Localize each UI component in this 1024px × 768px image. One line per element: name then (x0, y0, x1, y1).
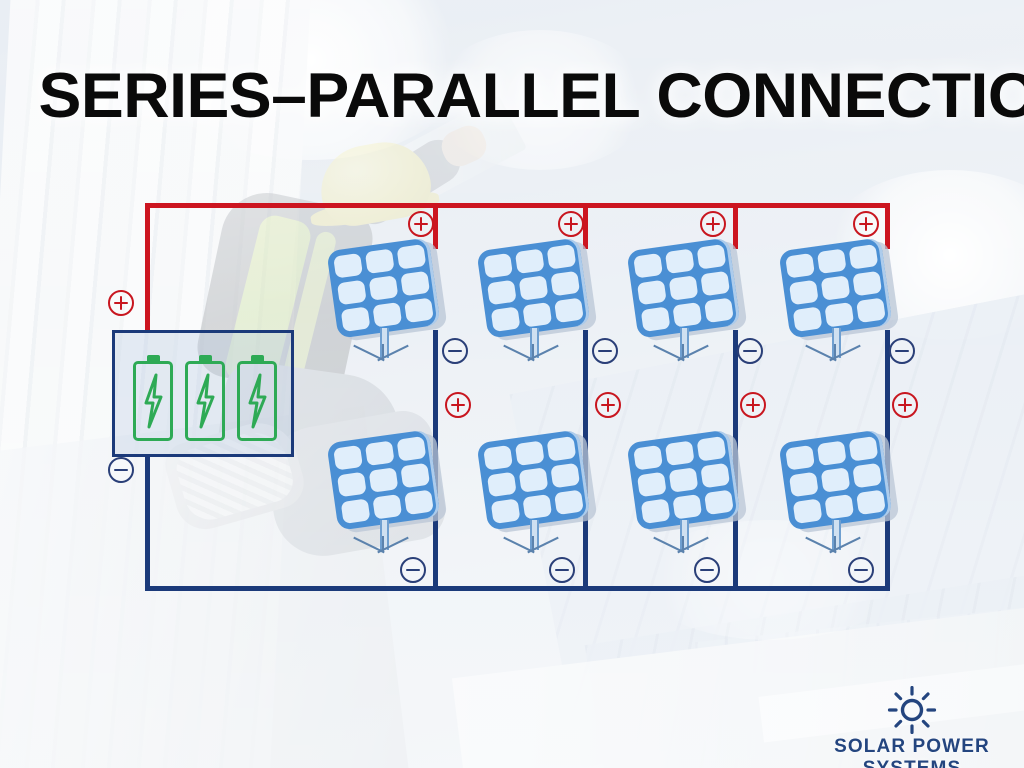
panel-r2c3[interactable] (630, 432, 748, 550)
panel-cell-grid (626, 429, 740, 530)
panel-leg (532, 536, 534, 552)
panel-leg (682, 344, 684, 360)
panel-r1c3[interactable] (630, 240, 748, 358)
wiring-diagram (0, 0, 1024, 768)
negative-terminal-r2c1[interactable] (400, 557, 426, 583)
positive-terminal-r1c3[interactable] (700, 211, 726, 237)
panel-r2c1[interactable] (330, 432, 448, 550)
positive-terminal-r2c3[interactable] (740, 392, 766, 418)
logo[interactable]: SOLAR POWER SYSTEMS (806, 686, 1018, 762)
sun-icon (884, 686, 940, 734)
panel-r2c4[interactable] (782, 432, 900, 550)
panel-r1c1[interactable] (330, 240, 448, 358)
positive-wire-to-battery (145, 203, 150, 333)
panel-leg (834, 344, 836, 360)
negative-terminal-r1c1[interactable] (442, 338, 468, 364)
negative-terminal-r1c4[interactable] (889, 338, 915, 364)
panel-leg (834, 536, 836, 552)
panel-leg (532, 344, 534, 360)
panel-cell-grid (476, 429, 590, 530)
battery-negative-terminal[interactable] (108, 457, 134, 483)
panel-cell-grid (778, 237, 892, 338)
lightning-bolt-icon (246, 373, 268, 429)
panel-cell-grid (326, 237, 440, 338)
positive-terminal-r1c1[interactable] (408, 211, 434, 237)
lightning-bolt-icon (194, 373, 216, 429)
battery-cell (133, 355, 173, 441)
battery-cell (237, 355, 277, 441)
panel-leg (382, 344, 384, 360)
positive-bus-horizontal (145, 203, 890, 208)
panel-r2c2[interactable] (480, 432, 598, 550)
panel-r1c2[interactable] (480, 240, 598, 358)
negative-terminal-r2c3[interactable] (694, 557, 720, 583)
negative-terminal-r1c3[interactable] (737, 338, 763, 364)
brand-name: SOLAR POWER SYSTEMS (806, 736, 1018, 768)
negative-terminal-r2c4[interactable] (848, 557, 874, 583)
panel-cell-grid (626, 237, 740, 338)
positive-terminal-r2c2[interactable] (595, 392, 621, 418)
negative-wire-from-battery (145, 455, 150, 591)
panel-cell-grid (326, 429, 440, 530)
negative-terminal-r2c2[interactable] (549, 557, 575, 583)
panel-leg (682, 536, 684, 552)
battery-positive-terminal[interactable] (108, 290, 134, 316)
lightning-bolt-icon (142, 373, 164, 429)
negative-terminal-r1c2[interactable] (592, 338, 618, 364)
panel-leg (382, 536, 384, 552)
positive-terminal-r2c4[interactable] (892, 392, 918, 418)
positive-terminal-r1c2[interactable] (558, 211, 584, 237)
panel-r1c4[interactable] (782, 240, 900, 358)
negative-bus-horizontal (145, 586, 890, 591)
battery-cell (185, 355, 225, 441)
positive-terminal-r2c1[interactable] (445, 392, 471, 418)
battery-bank[interactable] (112, 330, 294, 457)
panel-cell-grid (778, 429, 892, 530)
positive-terminal-r1c4[interactable] (853, 211, 879, 237)
panel-cell-grid (476, 237, 590, 338)
